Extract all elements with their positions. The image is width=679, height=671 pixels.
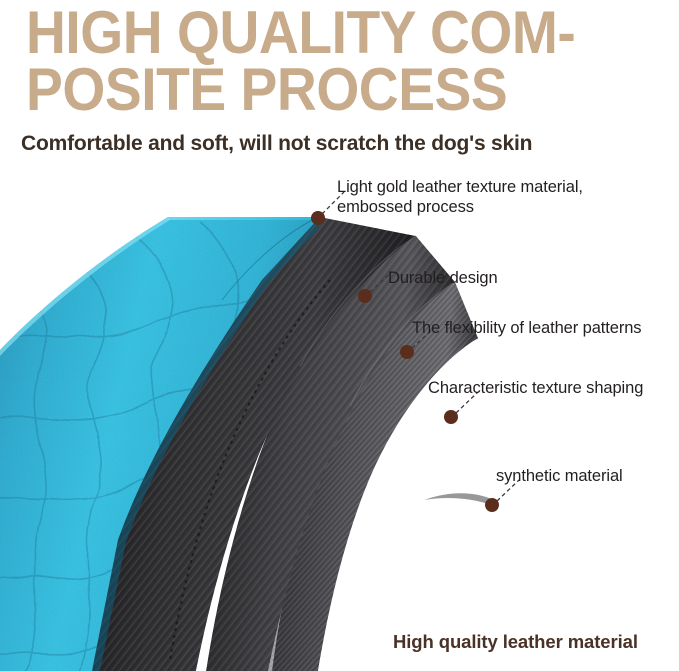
footer-caption: High quality leather material	[393, 631, 638, 653]
callout-dot-1	[358, 289, 372, 303]
callout-dot-3	[444, 410, 458, 424]
layered-material-illustration	[0, 160, 679, 671]
infographic-page: HIGH QUALITY COM- POSITE PROCESS Comfort…	[0, 0, 679, 671]
callout-dot-0	[311, 211, 325, 225]
callout-label-flexibility-leather-patterns: The flexibility of leather patterns	[412, 318, 641, 338]
callout-label-light-gold-leather: Light gold leather texture material, emb…	[337, 177, 583, 217]
page-title: HIGH QUALITY COM- POSITE PROCESS	[26, 4, 606, 118]
callout-dot-2	[400, 345, 414, 359]
callout-label-durable-design: Durable design	[388, 268, 498, 288]
callout-label-characteristic-texture: Characteristic texture shaping	[428, 378, 643, 398]
callout-label-synthetic-material: synthetic material	[496, 466, 623, 486]
callout-dot-4	[485, 498, 499, 512]
page-subtitle: Comfortable and soft, will not scratch t…	[21, 132, 532, 156]
